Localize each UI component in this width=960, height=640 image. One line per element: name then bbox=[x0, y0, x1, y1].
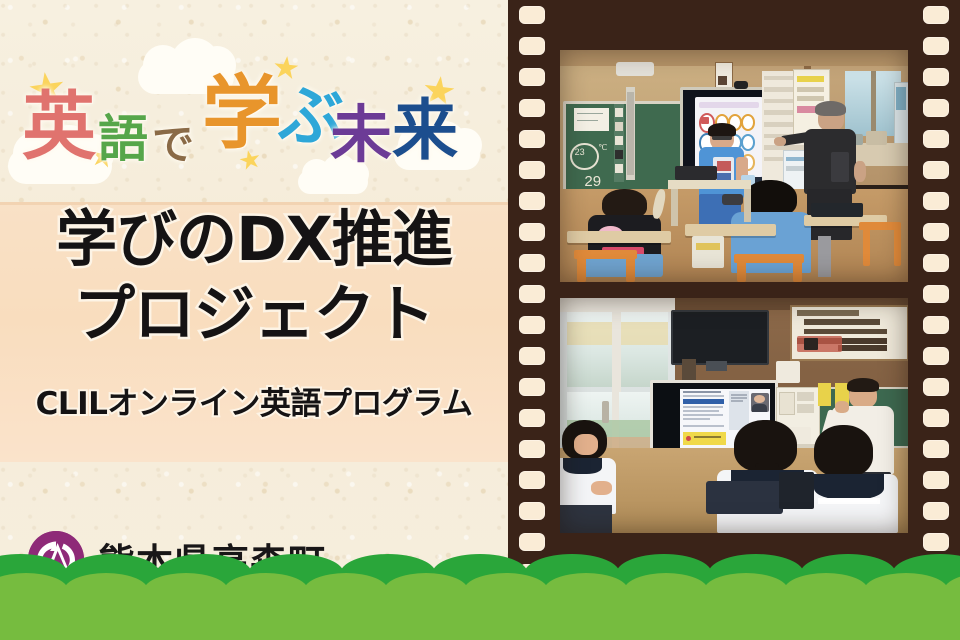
film-perforation bbox=[519, 68, 545, 86]
grass-bump bbox=[544, 573, 628, 608]
film-perforation bbox=[519, 347, 545, 365]
film-perforation bbox=[923, 378, 949, 396]
grass-bump bbox=[224, 573, 308, 608]
film-perforation bbox=[519, 378, 545, 396]
film-perforation bbox=[519, 533, 545, 551]
film-perforation bbox=[923, 68, 949, 86]
film-perforation bbox=[519, 316, 545, 334]
film-perforation bbox=[923, 316, 949, 334]
grass-bump bbox=[0, 573, 68, 608]
poster-root: 英語で学ぶ未来 学びのDX推進 プロジェクト CLILオンライン英語プログラム … bbox=[0, 0, 960, 640]
photo-elementary-classroom: 23 ℃ 29 bbox=[560, 50, 908, 282]
film-perforation bbox=[519, 192, 545, 210]
film-perforation bbox=[519, 409, 545, 427]
grass-front-layer bbox=[0, 606, 960, 640]
film-perforation bbox=[519, 6, 545, 24]
film-perforation bbox=[923, 471, 949, 489]
film-perforation bbox=[923, 533, 949, 551]
film-perforation bbox=[923, 37, 949, 55]
film-perforation bbox=[923, 223, 949, 241]
film-perforation bbox=[519, 440, 545, 458]
film-perforation bbox=[519, 223, 545, 241]
headline-line-2: プロジェクト bbox=[0, 280, 508, 350]
grass-bump bbox=[304, 573, 388, 608]
sky-title: 英語で学ぶ未来 bbox=[0, 62, 508, 190]
film-perforation bbox=[519, 502, 545, 520]
sky-title-char-7: 来 bbox=[392, 98, 458, 164]
film-perforation bbox=[923, 6, 949, 24]
film-perforation bbox=[519, 99, 545, 117]
film-perforation bbox=[923, 254, 949, 272]
sky-title-char-6: 未 bbox=[330, 104, 392, 166]
grass-bump bbox=[384, 573, 468, 608]
film-perforation bbox=[923, 409, 949, 427]
film-perforations-right bbox=[912, 0, 960, 600]
sky-title-char-2: 語 bbox=[98, 114, 148, 164]
film-perforation bbox=[519, 161, 545, 179]
film-perforation bbox=[519, 471, 545, 489]
sky-title-char-3: で bbox=[152, 124, 194, 166]
film-perforation bbox=[923, 440, 949, 458]
film-perforation bbox=[519, 130, 545, 148]
film-perforations-left bbox=[508, 0, 556, 600]
grass-bump bbox=[144, 573, 228, 608]
film-perforation bbox=[519, 254, 545, 272]
film-perforation bbox=[923, 502, 949, 520]
grass-bump bbox=[704, 573, 788, 608]
grass-bump bbox=[864, 573, 948, 608]
film-perforation bbox=[923, 192, 949, 210]
headline-line-1: 学びのDX推進 bbox=[0, 205, 508, 275]
film-perforation bbox=[923, 347, 949, 365]
sky-title-char-4: 学 bbox=[202, 74, 282, 154]
headline-subtitle: CLILオンライン英語プログラム bbox=[0, 384, 508, 424]
grass-bump bbox=[464, 573, 548, 608]
grass-bump bbox=[784, 573, 868, 608]
grass-decoration bbox=[0, 578, 960, 640]
film-perforation bbox=[923, 285, 949, 303]
film-perforation bbox=[923, 99, 949, 117]
sky-title-char-1: 英 bbox=[22, 90, 96, 164]
film-strip: 23 ℃ 29 bbox=[508, 0, 960, 600]
photo-junior-high-classroom bbox=[560, 298, 908, 533]
grass-bump bbox=[624, 573, 708, 608]
film-perforation bbox=[923, 161, 949, 179]
grass-bump bbox=[64, 573, 148, 608]
film-perforation bbox=[519, 285, 545, 303]
film-perforation bbox=[923, 130, 949, 148]
film-perforation bbox=[519, 37, 545, 55]
